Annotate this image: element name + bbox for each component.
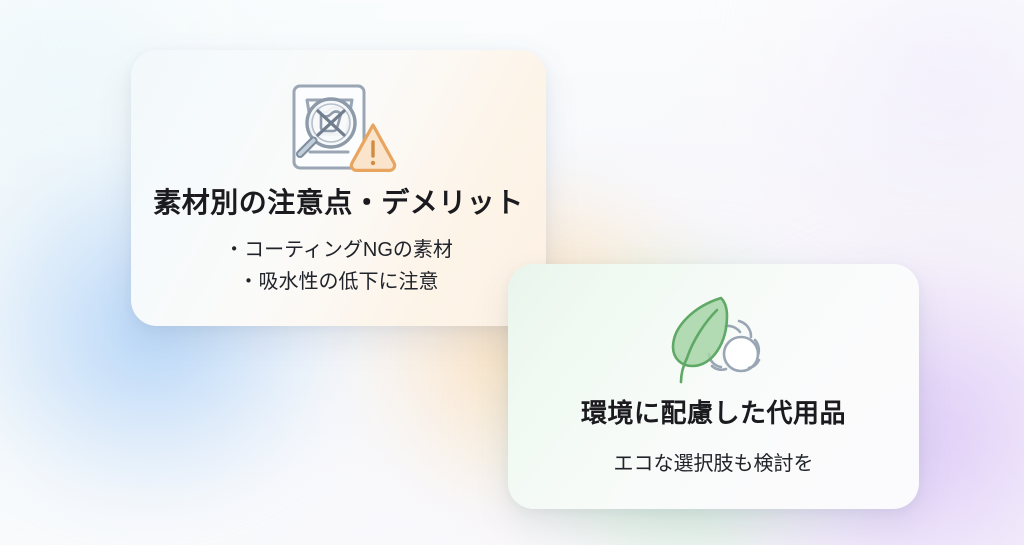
leaf-bubbles-icon [655,288,773,388]
list-item: ・コーティングNGの素材 [224,234,453,266]
card-title-hazard: 素材別の注意点・デメリット [153,186,524,220]
care-label-magnifier-warning-icon [280,76,398,180]
hazard-bullet-list: ・コーティングNGの素材 ・吸水性の低下に注意 [224,234,453,299]
infographic-canvas: 素材別の注意点・デメリット ・コーティングNGの素材 ・吸水性の低下に注意 [0,0,1024,545]
card-subtitle-eco: エコな選択肢も検討を [614,447,814,476]
list-item: ・吸水性の低下に注意 [224,266,453,298]
material-caution-card: 素材別の注意点・デメリット ・コーティングNGの素材 ・吸水性の低下に注意 [131,50,546,326]
card-title-eco: 環境に配慮した代用品 [581,398,846,429]
eco-alternative-card: 環境に配慮した代用品 エコな選択肢も検討を [508,264,919,509]
